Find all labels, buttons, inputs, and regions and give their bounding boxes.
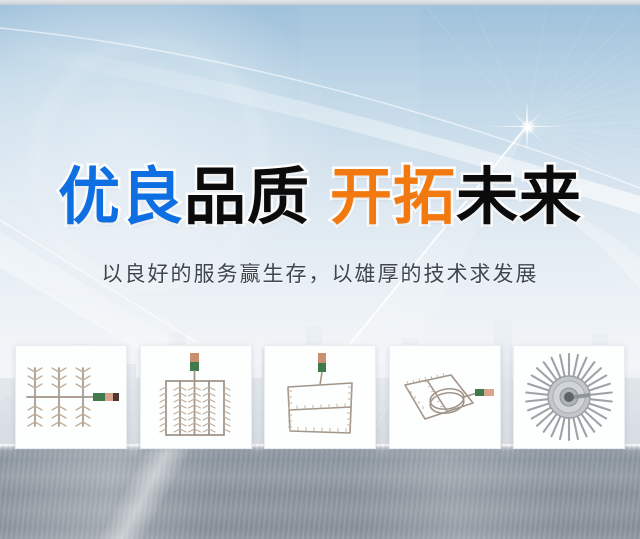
product-card[interactable] — [15, 345, 127, 449]
company-promo-banner: 优良品质开拓未来 以良好的服务赢生存，以雄厚的技术求发展 — [0, 0, 640, 539]
product-card-row — [15, 345, 625, 447]
product-ring-plate-icon — [395, 359, 495, 435]
product-card[interactable] — [389, 345, 501, 449]
page-title: 优良品质开拓未来 — [0, 166, 640, 230]
product-card[interactable] — [264, 345, 376, 449]
product-flat-frame-icon — [274, 351, 366, 443]
headline-segment-black-1: 品质 — [184, 166, 310, 230]
headline-segment-blue: 优良 — [58, 166, 184, 230]
product-comb-rack-icon — [19, 354, 123, 440]
page-subtitle: 以良好的服务赢生存，以雄厚的技术求发展 — [0, 260, 640, 290]
top-edge-strip — [0, 0, 640, 5]
ground-surface — [0, 444, 640, 539]
product-card[interactable] — [140, 345, 252, 449]
product-card[interactable] — [513, 345, 625, 449]
lens-flare-star-icon — [527, 126, 529, 128]
product-pin-rack-icon — [150, 351, 242, 443]
headline-segment-orange: 开拓 — [330, 166, 456, 230]
headline-segment-black-2: 未来 — [456, 166, 582, 230]
product-star-wheel-icon — [522, 352, 616, 442]
